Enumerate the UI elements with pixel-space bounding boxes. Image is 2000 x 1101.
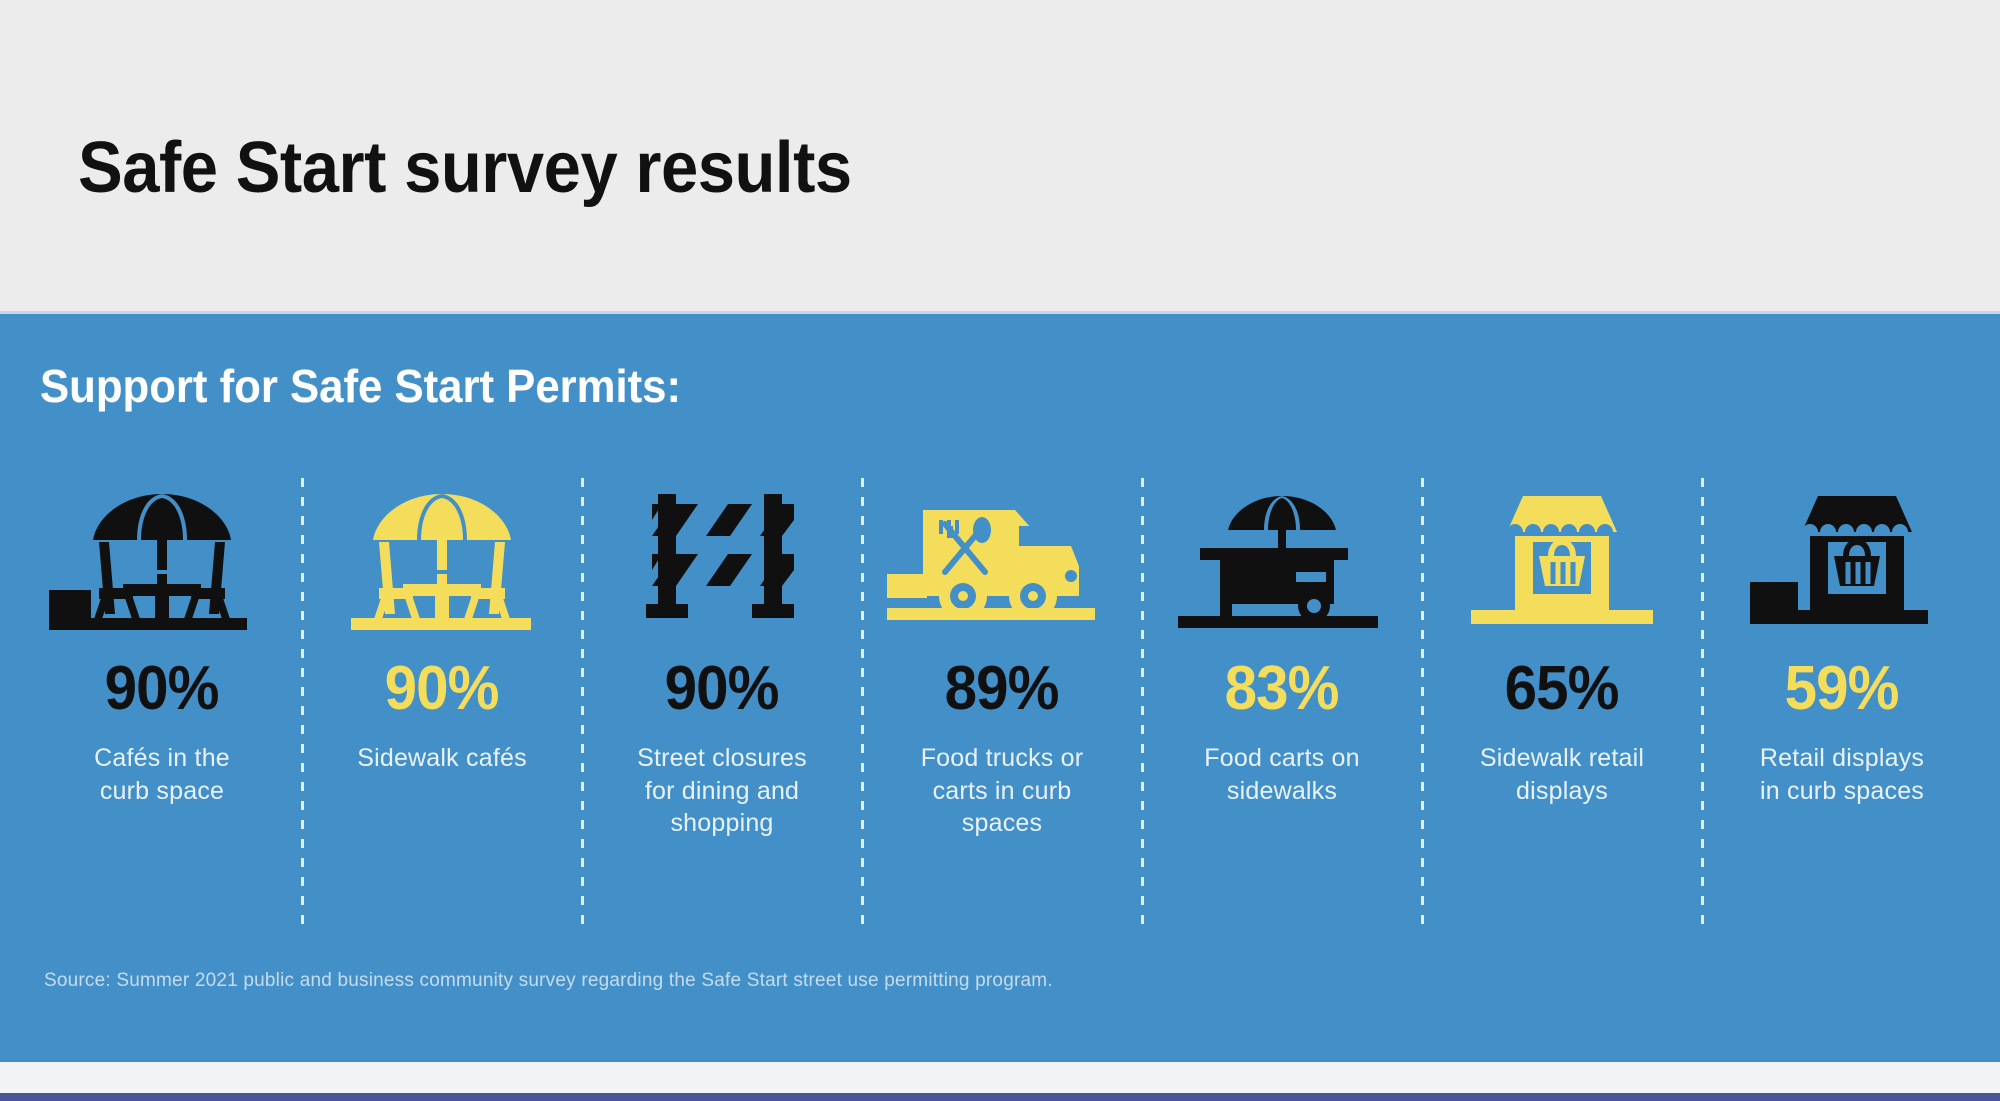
- caption-line: Food carts on: [1204, 744, 1359, 772]
- column-caption: Cafés in the curb space: [33, 742, 291, 807]
- caption-line: curb space: [100, 777, 224, 805]
- percentage-value: 89%: [945, 658, 1059, 720]
- percentage-value: 59%: [1785, 658, 1899, 720]
- bottom-white-strip: [0, 1062, 2000, 1093]
- survey-column-street-closures: 90% Street closures for dining and shopp…: [582, 470, 862, 940]
- column-caption: Food carts on sidewalks: [1153, 742, 1411, 807]
- percentage-value: 90%: [385, 658, 499, 720]
- caption-line: displays: [1516, 777, 1608, 805]
- food-truck-icon: [862, 470, 1142, 630]
- percentage-value: 83%: [1225, 658, 1339, 720]
- survey-column-cafes-curb-space: 90% Cafés in the curb space: [22, 470, 302, 940]
- cafe-umbrella-curb-icon: [22, 470, 302, 630]
- caption-line: Sidewalk cafés: [357, 744, 527, 772]
- bottom-accent-bar: [0, 1093, 2000, 1101]
- caption-line: Street closures: [637, 744, 807, 772]
- survey-column-sidewalk-cafes: 90% Sidewalk cafés: [302, 470, 582, 940]
- caption-line: sidewalks: [1227, 777, 1337, 805]
- survey-column-food-carts-sidewalks: 83% Food carts on sidewalks: [1142, 470, 1422, 940]
- caption-line: Sidewalk retail: [1480, 744, 1644, 772]
- percentage-value: 65%: [1505, 658, 1619, 720]
- food-cart-umbrella-icon: [1142, 470, 1422, 630]
- column-caption: Sidewalk retail displays: [1433, 742, 1691, 807]
- caption-line: Food trucks or: [921, 744, 1084, 772]
- survey-column-food-trucks: 89% Food trucks or carts in curb spaces: [862, 470, 1142, 940]
- source-note: Source: Summer 2021 public and business …: [44, 970, 1053, 992]
- page-title: Safe Start survey results: [78, 132, 852, 204]
- column-caption: Street closures for dining and shopping: [593, 742, 851, 840]
- percentage-value: 90%: [105, 658, 219, 720]
- retail-stall-curb-icon: [1702, 470, 1982, 630]
- percentage-value: 90%: [665, 658, 779, 720]
- survey-column-retail-curb-spaces: 59% Retail displays in curb spaces: [1702, 470, 1982, 940]
- header-band: Safe Start survey results: [0, 0, 2000, 313]
- retail-stall-icon: [1422, 470, 1702, 630]
- column-caption: Sidewalk cafés: [313, 742, 571, 775]
- slide-root: Safe Start survey results Support for Sa…: [0, 0, 2000, 1101]
- caption-line: in curb spaces: [1760, 777, 1924, 805]
- caption-line: Cafés in the: [94, 744, 230, 772]
- cafe-umbrella-icon: [302, 470, 582, 630]
- panel-title: Support for Safe Start Permits:: [40, 363, 681, 409]
- column-caption: Retail displays in curb spaces: [1713, 742, 1971, 807]
- caption-line: Retail displays: [1760, 744, 1924, 772]
- road-barricade-icon: [582, 470, 862, 630]
- caption-line: spaces: [962, 809, 1042, 837]
- caption-line: for dining and: [645, 777, 799, 805]
- column-caption: Food trucks or carts in curb spaces: [873, 742, 1131, 840]
- survey-columns: 90% Cafés in the curb space: [22, 470, 1982, 940]
- survey-column-sidewalk-retail: 65% Sidewalk retail displays: [1422, 470, 1702, 940]
- caption-line: shopping: [670, 809, 773, 837]
- caption-line: carts in curb: [933, 777, 1072, 805]
